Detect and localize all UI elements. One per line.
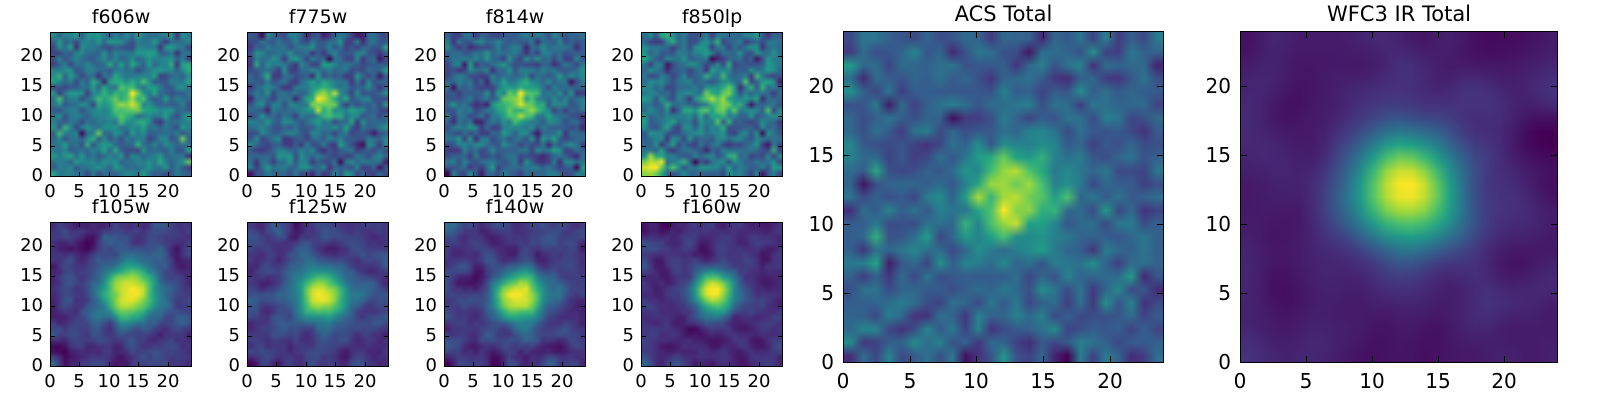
x-tick xyxy=(138,362,139,367)
y-tick xyxy=(444,336,449,337)
y-tick-label: 5 xyxy=(623,137,634,155)
x-tick-top xyxy=(335,32,336,37)
y-tick-label: 0 xyxy=(229,357,240,375)
y-tick-right xyxy=(581,86,586,87)
x-tick-label: 0 xyxy=(241,373,252,391)
y-tick xyxy=(444,366,449,367)
y-tick-right xyxy=(187,246,192,247)
y-tick-label: 15 xyxy=(20,267,43,285)
y-tick xyxy=(50,146,55,147)
y-tick-right xyxy=(778,366,783,367)
x-tick-label: 5 xyxy=(904,371,917,391)
y-tick-label: 15 xyxy=(809,145,834,165)
x-tick-top xyxy=(1504,31,1505,38)
x-tick-top xyxy=(503,222,504,227)
y-tick-right xyxy=(1551,293,1558,294)
y-tick-right xyxy=(778,306,783,307)
heatmap-image xyxy=(844,32,1163,362)
x-tick-top xyxy=(276,222,277,227)
heatmap-image xyxy=(248,223,388,366)
y-tick xyxy=(50,246,55,247)
y-tick xyxy=(641,176,646,177)
y-tick-right xyxy=(778,246,783,247)
panel-f105w: f105w0055101015152020 xyxy=(50,222,192,367)
x-tick-top xyxy=(700,222,701,227)
y-tick xyxy=(50,176,55,177)
axes-frame xyxy=(247,222,389,367)
y-tick xyxy=(247,86,252,87)
y-tick-right xyxy=(581,336,586,337)
x-tick-label: 20 xyxy=(157,373,180,391)
y-tick xyxy=(50,306,55,307)
x-tick xyxy=(335,362,336,367)
y-tick xyxy=(50,276,55,277)
x-tick-top xyxy=(109,32,110,37)
x-tick-top xyxy=(168,32,169,37)
x-tick-top xyxy=(976,31,977,38)
x-tick-label: 15 xyxy=(127,373,150,391)
y-tick-right xyxy=(778,276,783,277)
x-tick-top xyxy=(910,31,911,38)
x-tick-label: 10 xyxy=(492,373,515,391)
x-tick-top xyxy=(444,222,445,227)
y-tick xyxy=(247,336,252,337)
y-tick xyxy=(444,246,449,247)
x-tick xyxy=(365,362,366,367)
heatmap-image xyxy=(51,223,191,366)
x-tick xyxy=(729,362,730,367)
y-tick-label: 10 xyxy=(1206,214,1231,234)
x-tick-label: 20 xyxy=(1491,371,1516,391)
x-tick-label: 5 xyxy=(467,373,478,391)
x-tick xyxy=(306,172,307,177)
panel-f775w: f775w0055101015152020 xyxy=(247,32,389,177)
panel-title: f140w xyxy=(444,198,586,217)
x-tick xyxy=(759,362,760,367)
y-tick xyxy=(1240,224,1247,225)
x-tick-top xyxy=(335,222,336,227)
y-tick-right xyxy=(1157,86,1164,87)
axes-frame xyxy=(641,32,783,177)
y-tick xyxy=(247,366,252,367)
panel-acs-total: ACS Total0055101015152020 xyxy=(843,31,1164,363)
heatmap-image xyxy=(642,223,782,366)
axes-frame xyxy=(641,222,783,367)
y-tick xyxy=(1240,293,1247,294)
x-tick-top xyxy=(532,32,533,37)
y-tick-label: 10 xyxy=(414,297,437,315)
y-tick-label: 20 xyxy=(809,76,834,96)
y-tick-right xyxy=(384,366,389,367)
y-tick-label: 10 xyxy=(20,297,43,315)
y-tick-label: 10 xyxy=(217,107,240,125)
y-tick xyxy=(843,224,850,225)
x-tick-label: 20 xyxy=(1097,371,1122,391)
y-tick xyxy=(247,276,252,277)
x-tick-top xyxy=(641,222,642,227)
y-tick-right xyxy=(581,56,586,57)
y-tick-right xyxy=(778,86,783,87)
y-tick-label: 15 xyxy=(217,267,240,285)
axes-frame xyxy=(843,31,1164,363)
y-tick-right xyxy=(778,116,783,117)
y-tick xyxy=(1240,362,1247,363)
x-tick-label: 10 xyxy=(689,373,712,391)
y-tick-label: 5 xyxy=(821,283,834,303)
y-tick-label: 20 xyxy=(1206,76,1231,96)
panel-f814w: f814w0055101015152020 xyxy=(444,32,586,177)
x-tick-top xyxy=(562,32,563,37)
panel-f850lp: f850lp0055101015152020 xyxy=(641,32,783,177)
x-tick-label: 15 xyxy=(324,373,347,391)
x-tick-top xyxy=(641,32,642,37)
x-tick xyxy=(1372,356,1373,363)
x-tick-top xyxy=(79,222,80,227)
x-tick-label: 0 xyxy=(44,373,55,391)
y-tick-label: 0 xyxy=(32,167,43,185)
y-tick-right xyxy=(1551,362,1558,363)
x-tick xyxy=(562,172,563,177)
panel-title: f814w xyxy=(444,8,586,27)
y-tick xyxy=(641,336,646,337)
y-tick xyxy=(247,116,252,117)
x-tick xyxy=(168,362,169,367)
y-tick-right xyxy=(1551,86,1558,87)
y-tick xyxy=(444,146,449,147)
x-tick xyxy=(1504,356,1505,363)
x-tick xyxy=(276,172,277,177)
y-tick-right xyxy=(778,56,783,57)
x-tick xyxy=(976,356,977,363)
y-tick-label: 15 xyxy=(611,77,634,95)
x-tick-top xyxy=(670,32,671,37)
x-tick-top xyxy=(532,222,533,227)
x-tick-top xyxy=(50,222,51,227)
y-tick-right xyxy=(1157,155,1164,156)
x-tick-label: 10 xyxy=(98,373,121,391)
y-tick-label: 20 xyxy=(20,237,43,255)
x-tick-top xyxy=(1438,31,1439,38)
x-tick xyxy=(168,172,169,177)
x-tick-label: 5 xyxy=(1300,371,1313,391)
x-tick-top xyxy=(843,31,844,38)
y-tick-label: 10 xyxy=(414,107,437,125)
y-tick xyxy=(444,56,449,57)
x-tick-label: 15 xyxy=(718,373,741,391)
x-tick xyxy=(910,356,911,363)
x-tick-top xyxy=(700,32,701,37)
y-tick-right xyxy=(384,56,389,57)
y-tick-right xyxy=(778,146,783,147)
y-tick xyxy=(247,176,252,177)
y-tick-right xyxy=(384,336,389,337)
y-tick-label: 15 xyxy=(611,267,634,285)
y-tick-label: 0 xyxy=(1218,352,1231,372)
x-tick xyxy=(503,362,504,367)
x-tick-top xyxy=(729,222,730,227)
y-tick-right xyxy=(1157,293,1164,294)
x-tick-label: 0 xyxy=(837,371,850,391)
y-tick-label: 20 xyxy=(414,237,437,255)
panel-f125w: f125w0055101015152020 xyxy=(247,222,389,367)
x-tick-label: 15 xyxy=(1030,371,1055,391)
x-tick xyxy=(1110,356,1111,363)
x-tick-top xyxy=(562,222,563,227)
y-tick-right xyxy=(187,116,192,117)
x-tick xyxy=(473,362,474,367)
y-tick-right xyxy=(384,116,389,117)
y-tick xyxy=(50,366,55,367)
y-tick xyxy=(444,276,449,277)
y-tick-label: 0 xyxy=(426,167,437,185)
y-tick-right xyxy=(384,306,389,307)
y-tick xyxy=(444,86,449,87)
x-tick-top xyxy=(473,222,474,227)
y-tick-label: 15 xyxy=(217,77,240,95)
x-tick xyxy=(109,362,110,367)
x-tick xyxy=(532,172,533,177)
x-tick xyxy=(138,172,139,177)
x-tick-top xyxy=(670,222,671,227)
y-tick-right xyxy=(187,86,192,87)
x-tick-top xyxy=(247,222,248,227)
y-tick-right xyxy=(384,86,389,87)
y-tick-label: 0 xyxy=(623,167,634,185)
y-tick-label: 5 xyxy=(32,137,43,155)
x-tick-top xyxy=(1372,31,1373,38)
y-tick-right xyxy=(384,176,389,177)
axes-frame xyxy=(444,32,586,177)
x-tick-top xyxy=(247,32,248,37)
y-tick-label: 20 xyxy=(414,47,437,65)
x-tick-top xyxy=(729,32,730,37)
panel-title: f125w xyxy=(247,198,389,217)
x-tick-top xyxy=(138,222,139,227)
x-tick xyxy=(1438,356,1439,363)
figure-canvas: f606w0055101015152020f775w00551010151520… xyxy=(0,0,1600,400)
x-tick-top xyxy=(365,32,366,37)
y-tick-label: 10 xyxy=(611,297,634,315)
y-tick xyxy=(50,86,55,87)
y-tick-right xyxy=(187,56,192,57)
y-tick-right xyxy=(581,146,586,147)
y-tick-label: 15 xyxy=(414,77,437,95)
panel-wfc3-ir-total: WFC3 IR Total0055101015152020 xyxy=(1240,31,1558,363)
x-tick-top xyxy=(109,222,110,227)
panel-f606w: f606w0055101015152020 xyxy=(50,32,192,177)
y-tick xyxy=(843,155,850,156)
y-tick xyxy=(641,86,646,87)
y-tick-label: 5 xyxy=(426,327,437,345)
x-tick-top xyxy=(306,32,307,37)
heatmap-image xyxy=(445,33,585,176)
panel-title: ACS Total xyxy=(843,4,1164,25)
heatmap-image xyxy=(642,33,782,176)
panel-title: f850lp xyxy=(641,8,783,27)
heatmap-image xyxy=(51,33,191,176)
y-tick-label: 10 xyxy=(20,107,43,125)
y-tick-label: 20 xyxy=(611,237,634,255)
y-tick-right xyxy=(1551,155,1558,156)
y-tick-label: 20 xyxy=(217,47,240,65)
axes-frame xyxy=(247,32,389,177)
y-tick-label: 10 xyxy=(611,107,634,125)
panel-title: WFC3 IR Total xyxy=(1240,4,1558,25)
x-tick-top xyxy=(1110,31,1111,38)
panel-title: f775w xyxy=(247,8,389,27)
y-tick-right xyxy=(384,146,389,147)
x-tick-label: 15 xyxy=(1425,371,1450,391)
y-tick-label: 0 xyxy=(32,357,43,375)
y-tick-label: 5 xyxy=(229,327,240,345)
y-tick-label: 5 xyxy=(623,327,634,345)
y-tick-right xyxy=(384,276,389,277)
x-tick-top xyxy=(276,32,277,37)
x-tick xyxy=(670,172,671,177)
x-tick xyxy=(473,172,474,177)
y-tick xyxy=(843,86,850,87)
y-tick-label: 20 xyxy=(217,237,240,255)
axes-frame xyxy=(444,222,586,367)
x-tick xyxy=(532,362,533,367)
y-tick xyxy=(50,56,55,57)
x-tick-top xyxy=(79,32,80,37)
x-tick-label: 20 xyxy=(354,373,377,391)
y-tick xyxy=(444,176,449,177)
x-tick-label: 5 xyxy=(664,373,675,391)
y-tick-label: 10 xyxy=(217,297,240,315)
x-tick xyxy=(79,172,80,177)
panel-f160w: f160w0055101015152020 xyxy=(641,222,783,367)
y-tick-right xyxy=(581,276,586,277)
x-tick-label: 20 xyxy=(551,373,574,391)
y-tick xyxy=(444,116,449,117)
y-tick-right xyxy=(187,336,192,337)
y-tick-right xyxy=(581,246,586,247)
y-tick-label: 10 xyxy=(809,214,834,234)
axes-frame xyxy=(1240,31,1558,363)
y-tick-right xyxy=(187,366,192,367)
x-tick-label: 10 xyxy=(1359,371,1384,391)
x-tick xyxy=(729,172,730,177)
y-tick-right xyxy=(187,176,192,177)
y-tick xyxy=(444,306,449,307)
y-tick xyxy=(641,366,646,367)
y-tick-label: 15 xyxy=(414,267,437,285)
y-tick xyxy=(641,146,646,147)
x-tick-label: 0 xyxy=(1234,371,1247,391)
x-tick xyxy=(700,362,701,367)
y-tick-label: 5 xyxy=(426,137,437,155)
y-tick-label: 5 xyxy=(229,137,240,155)
x-tick-top xyxy=(1240,31,1241,38)
x-tick xyxy=(562,362,563,367)
y-tick xyxy=(641,116,646,117)
panel-title: f160w xyxy=(641,198,783,217)
y-tick xyxy=(247,56,252,57)
x-tick-top xyxy=(444,32,445,37)
y-tick-right xyxy=(1157,224,1164,225)
x-tick-top xyxy=(365,222,366,227)
panel-f140w: f140w0055101015152020 xyxy=(444,222,586,367)
y-tick-label: 20 xyxy=(611,47,634,65)
x-tick xyxy=(335,172,336,177)
x-tick xyxy=(79,362,80,367)
y-tick-label: 15 xyxy=(20,77,43,95)
y-tick-right xyxy=(187,306,192,307)
y-tick xyxy=(843,362,850,363)
y-tick-right xyxy=(1157,362,1164,363)
heatmap-image xyxy=(248,33,388,176)
y-tick-right xyxy=(778,336,783,337)
x-tick-label: 0 xyxy=(635,373,646,391)
y-tick xyxy=(641,306,646,307)
x-tick xyxy=(306,362,307,367)
y-tick-label: 5 xyxy=(32,327,43,345)
y-tick xyxy=(247,246,252,247)
x-tick xyxy=(759,172,760,177)
y-tick xyxy=(50,116,55,117)
y-tick-label: 5 xyxy=(1218,283,1231,303)
axes-frame xyxy=(50,32,192,177)
y-tick-right xyxy=(187,146,192,147)
y-tick xyxy=(50,336,55,337)
y-tick-right xyxy=(384,246,389,247)
y-tick-right xyxy=(187,276,192,277)
x-tick-top xyxy=(759,222,760,227)
y-tick xyxy=(1240,155,1247,156)
y-tick-right xyxy=(581,176,586,177)
heatmap-image xyxy=(1241,32,1557,362)
y-tick-right xyxy=(581,366,586,367)
panel-title: f606w xyxy=(50,8,192,27)
x-tick-label: 15 xyxy=(521,373,544,391)
y-tick xyxy=(1240,86,1247,87)
x-tick xyxy=(1043,356,1044,363)
x-tick-label: 5 xyxy=(270,373,281,391)
y-tick xyxy=(247,146,252,147)
y-tick-label: 20 xyxy=(20,47,43,65)
y-tick-right xyxy=(581,306,586,307)
y-tick xyxy=(247,306,252,307)
x-tick-top xyxy=(138,32,139,37)
x-tick xyxy=(1306,356,1307,363)
y-tick xyxy=(641,246,646,247)
x-tick-top xyxy=(1306,31,1307,38)
x-tick xyxy=(503,172,504,177)
heatmap-image xyxy=(445,223,585,366)
y-tick-right xyxy=(778,176,783,177)
y-tick-label: 0 xyxy=(426,357,437,375)
y-tick-label: 0 xyxy=(623,357,634,375)
y-tick-label: 0 xyxy=(821,352,834,372)
x-tick xyxy=(700,172,701,177)
x-tick-top xyxy=(1043,31,1044,38)
y-tick xyxy=(641,56,646,57)
x-tick xyxy=(109,172,110,177)
x-tick-top xyxy=(503,32,504,37)
x-tick-top xyxy=(50,32,51,37)
y-tick-right xyxy=(1551,224,1558,225)
y-tick-right xyxy=(581,116,586,117)
x-tick-label: 0 xyxy=(438,373,449,391)
x-tick-top xyxy=(168,222,169,227)
x-tick-top xyxy=(759,32,760,37)
x-tick-top xyxy=(473,32,474,37)
x-tick xyxy=(670,362,671,367)
x-tick xyxy=(276,362,277,367)
y-tick xyxy=(641,276,646,277)
